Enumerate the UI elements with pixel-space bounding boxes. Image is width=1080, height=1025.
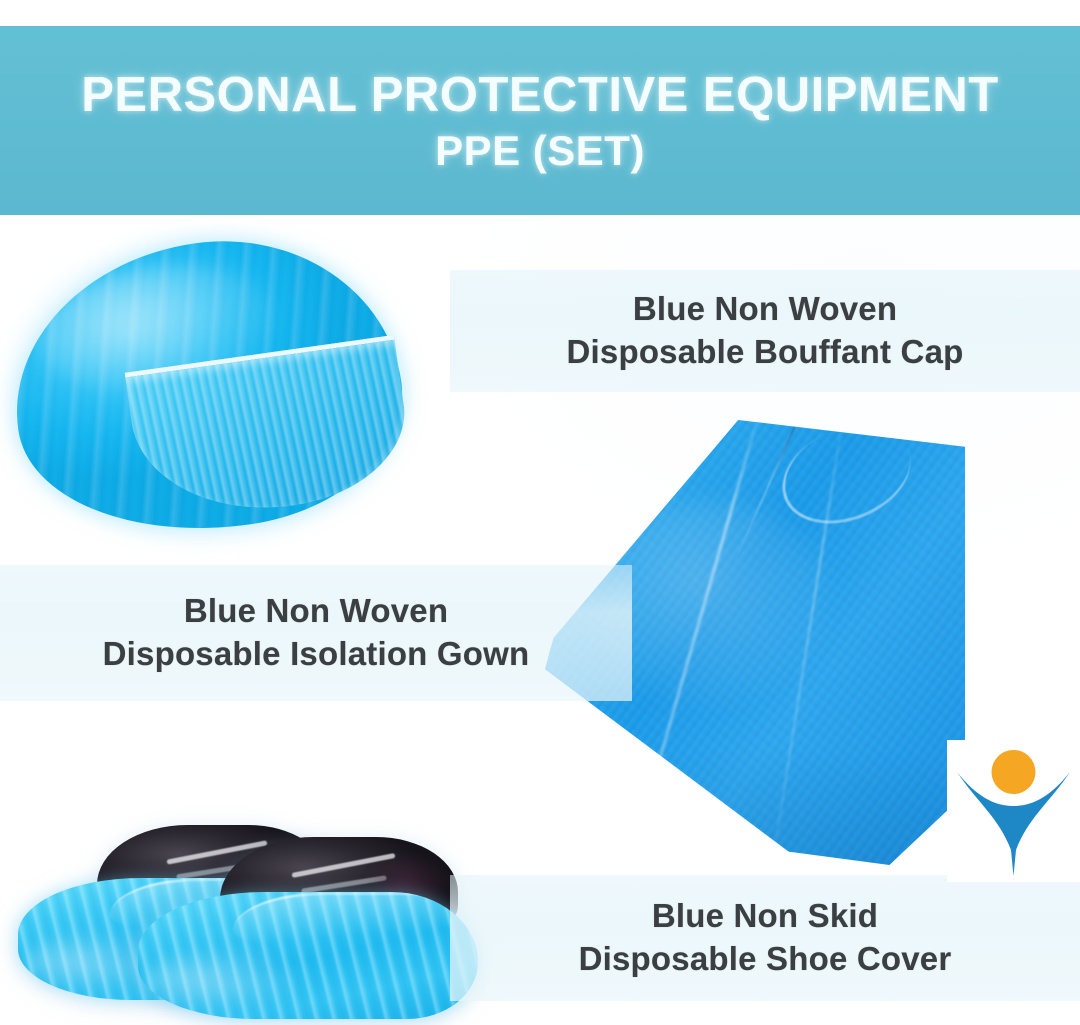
human-figure-icon [947,740,1080,882]
blue-cover-front [138,892,478,1019]
caption-shoe-cover-line1: Blue Non Skid [652,895,878,938]
gown-edge-shadow [545,749,965,865]
logo-head-circle [992,750,1036,794]
caption-bouffant-cap-line1: Blue Non Woven [633,288,897,331]
caption-plate-isolation-gown: Blue Non Woven Disposable Isolation Gown [0,565,632,701]
shoe-cover-image [10,815,460,1025]
header-banner: PERSONAL PROTECTIVE EQUIPMENT PPE (SET) [0,26,1080,215]
poster-body: Blue Non Woven Disposable Bouffant Cap B… [0,215,1080,1025]
poster-title-line2: PPE (SET) [435,127,645,175]
caption-bouffant-cap-line2: Disposable Bouffant Cap [567,331,964,374]
caption-isolation-gown-line2: Disposable Isolation Gown [103,633,530,676]
ppe-product-poster: PERSONAL PROTECTIVE EQUIPMENT PPE (SET) … [0,0,1080,1025]
shoe-cover-front [138,837,478,1019]
caption-isolation-gown-line1: Blue Non Woven [184,590,448,633]
caption-shoe-cover-line2: Disposable Shoe Cover [579,938,952,981]
cover-elastic-front [233,892,478,949]
top-white-strip [0,0,1080,26]
cover-toe-sheen-front [145,948,301,1014]
bouffant-cap-image [8,233,406,543]
brand-logo [947,740,1080,882]
poster-title-line1: PERSONAL PROTECTIVE EQUIPMENT [81,70,998,121]
caption-plate-shoe-cover: Blue Non Skid Disposable Shoe Cover [450,875,1080,1001]
caption-plate-bouffant-cap: Blue Non Woven Disposable Bouffant Cap [450,270,1080,392]
